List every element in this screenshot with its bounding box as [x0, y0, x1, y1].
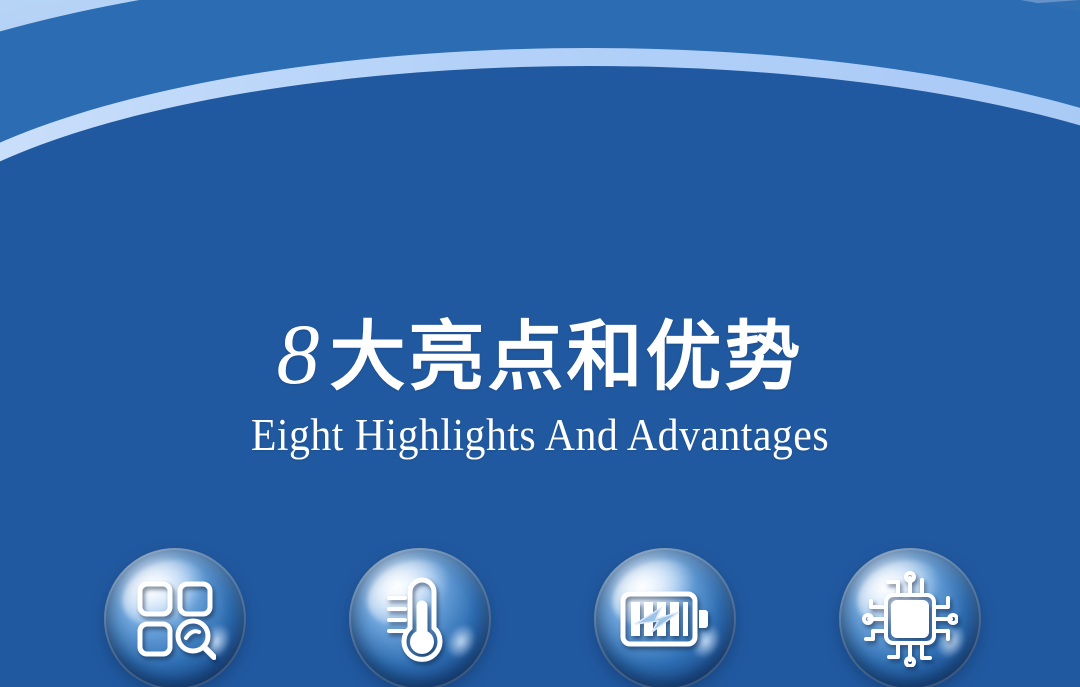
grid-search-icon — [104, 548, 246, 687]
page-subtitle: Eight Highlights And Advantages — [38, 409, 1042, 461]
cpu-chip-icon — [839, 548, 981, 687]
poster-canvas: 8大亮点和优势 Eight Highlights And Advantages — [0, 0, 1080, 687]
battery-charging-icon — [594, 548, 736, 687]
feature-icon-3[interactable] — [594, 548, 736, 687]
feature-icon-4[interactable] — [839, 548, 981, 687]
title-number: 8 — [277, 306, 330, 402]
page-title: 8大亮点和优势 — [0, 308, 1080, 403]
title-chinese: 大亮点和优势 — [330, 312, 804, 401]
hero-banner-image — [0, 0, 1080, 250]
feature-icon-1[interactable] — [104, 548, 246, 687]
feature-icon-2[interactable] — [349, 548, 491, 687]
thermometer-icon — [349, 548, 491, 687]
feature-icon-row — [0, 548, 1080, 687]
title-block: 8大亮点和优势 Eight Highlights And Advantages — [0, 308, 1080, 461]
